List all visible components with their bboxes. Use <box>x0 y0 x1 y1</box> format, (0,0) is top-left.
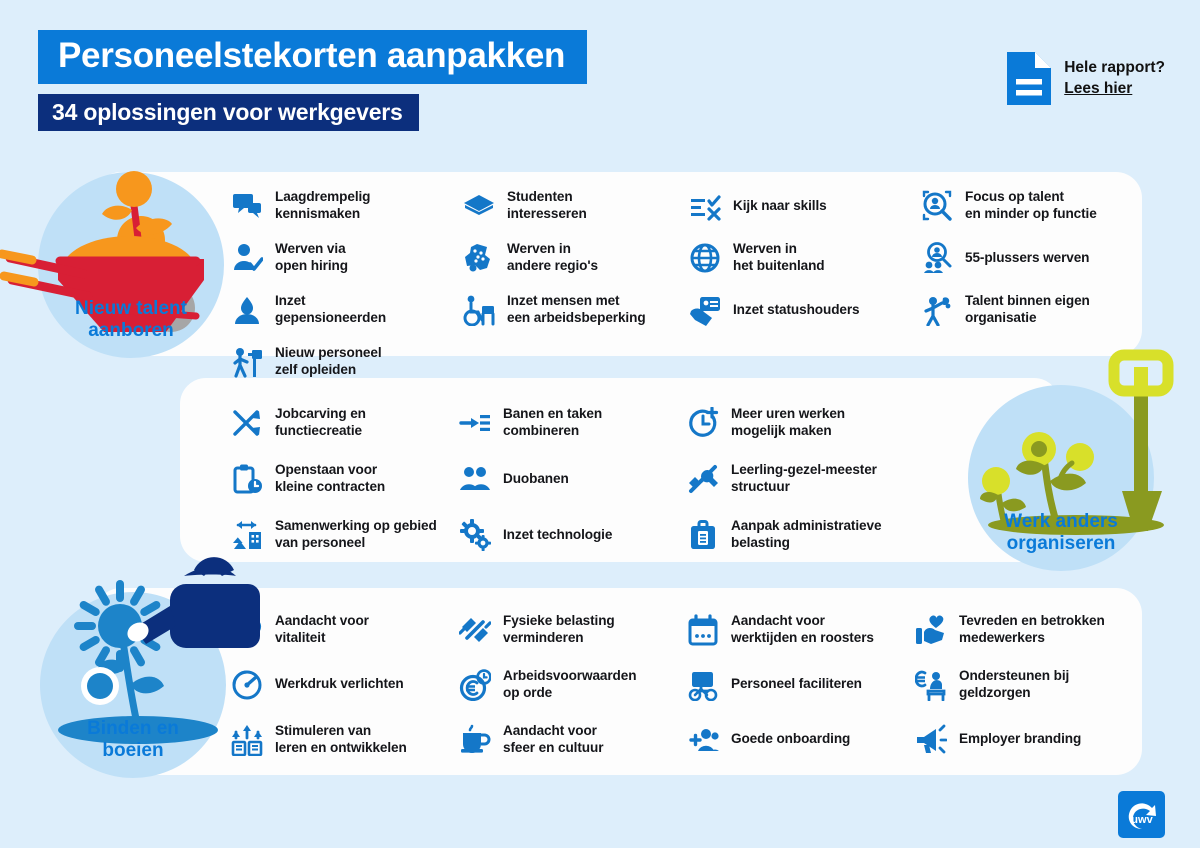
solution-item[interactable]: Werven inandere regio's <box>462 241 688 275</box>
solution-label: Banen en takencombineren <box>503 406 602 439</box>
solution-item[interactable]: Aandacht voorwerktijden en roosters <box>686 613 914 647</box>
solution-label-line1: Jobcarving en <box>275 406 366 421</box>
solution-item[interactable]: Nieuw personeelzelf opleiden <box>230 345 462 379</box>
megaphone-icon <box>914 723 948 757</box>
badge-label-line2: aanboren <box>88 320 174 341</box>
euro-clock-icon <box>458 668 492 702</box>
svg-text:uwv: uwv <box>1131 814 1153 826</box>
solution-label-line2: organisatie <box>965 310 1036 325</box>
solution-label-line2: mogelijk maken <box>731 423 832 438</box>
solution-label-line1: Banen en taken <box>503 406 602 421</box>
solution-label-line1: Personeel faciliteren <box>731 676 862 691</box>
solution-label-line2: het buitenland <box>733 258 825 273</box>
clock-plus-icon <box>686 406 720 440</box>
badge-label-line1: Nieuw talent <box>75 298 187 319</box>
solution-label-line1: Focus op talent <box>965 189 1064 204</box>
badge-nieuw-talent-aanboren: Nieuw talent aanboren <box>38 172 224 358</box>
solution-item[interactable]: Aandacht voorsfeer en cultuur <box>458 723 686 757</box>
solution-label-line1: Kijk naar skills <box>733 198 827 213</box>
solution-label-line1: Samenwerking op gebied <box>275 518 437 533</box>
solution-item[interactable]: Kijk naar skills <box>688 189 920 223</box>
solution-label: Focus op talenten minder op functie <box>965 189 1097 222</box>
badge-label-werk-anders: Werk anders organiseren <box>1004 511 1118 571</box>
solution-label-line2: geldzorgen <box>959 685 1031 700</box>
report-link[interactable]: Hele rapport? Lees hier <box>1007 52 1165 105</box>
solution-item[interactable]: Inzetgepensioneerden <box>230 293 462 327</box>
solution-label-line2: werktijden en roosters <box>731 630 874 645</box>
solution-label-line1: Werven via <box>275 241 346 256</box>
solution-item[interactable]: Duobanen <box>458 462 686 496</box>
solution-label-line1: Aanpak administratieve <box>731 518 881 533</box>
solution-item[interactable]: Tevreden en betrokkenmedewerkers <box>914 613 1124 647</box>
solution-label-line1: Inzet <box>275 293 305 308</box>
arrows-cross-icon <box>230 406 264 440</box>
solution-label: Tevreden en betrokkenmedewerkers <box>959 613 1105 646</box>
badge-label-binden-boeien: Binden en boeien <box>87 718 179 778</box>
solution-label-line2: sfeer en cultuur <box>503 740 603 755</box>
solution-item[interactable]: Werkdruk verlichten <box>230 668 458 702</box>
monitor-bike-icon <box>686 668 720 702</box>
solution-label: Goede onboarding <box>731 731 850 748</box>
solution-label: Aandacht voorvitaliteit <box>275 613 369 646</box>
solution-label-line1: Studenten <box>507 189 573 204</box>
solution-label-line2: van personeel <box>275 535 365 550</box>
solution-label: Werkdruk verlichten <box>275 676 404 693</box>
solution-label: Kijk naar skills <box>733 198 827 215</box>
solution-item[interactable]: Inzet technologie <box>458 518 686 552</box>
solution-label: Werven inhet buitenland <box>733 241 825 274</box>
hammer-wrench-icon <box>686 462 720 496</box>
uwv-logo: uwv <box>1118 791 1165 838</box>
map-region-icon <box>462 241 496 275</box>
solution-label-line1: Leerling-gezel-meester <box>731 462 877 477</box>
solution-label-line1: Aandacht voor <box>731 613 825 628</box>
senior-person-icon <box>230 293 264 327</box>
badge-label-line1: Binden en <box>87 718 179 739</box>
badge-label-nieuw-talent: Nieuw talent aanboren <box>75 298 187 358</box>
arrow-into-list-icon <box>458 406 492 440</box>
solution-label-line2: belasting <box>731 535 790 550</box>
report-read-here-link[interactable]: Lees hier <box>1064 79 1165 100</box>
buildings-exchange-icon <box>230 518 264 552</box>
solution-label-line1: Stimuleren van <box>275 723 371 738</box>
badge-label-line2: boeien <box>102 740 163 761</box>
solution-label-line2: vitaliteit <box>275 630 325 645</box>
solution-label: Personeel faciliteren <box>731 676 862 693</box>
hand-heart-icon <box>914 613 948 647</box>
solution-label-line1: Inzet mensen met <box>507 293 619 308</box>
solution-label-line2: andere regio's <box>507 258 598 273</box>
solution-item[interactable]: Meer uren werkenmogelijk maken <box>686 406 986 440</box>
solution-label-line1: Nieuw personeel <box>275 345 382 360</box>
solution-label-line2: op orde <box>503 685 552 700</box>
solution-label: Fysieke belastingverminderen <box>503 613 615 646</box>
solution-label-line2: kleine contracten <box>275 479 385 494</box>
people-magnifier-icon <box>920 241 954 275</box>
solution-item[interactable]: Samenwerking op gebiedvan personeel <box>230 518 458 552</box>
solution-item[interactable]: Inzet mensen meteen arbeidsbeperking <box>462 293 688 327</box>
page-title: Personeelstekorten aanpakken <box>38 30 587 84</box>
solution-item[interactable]: 55-plussers werven <box>920 241 1140 275</box>
talent-search-icon <box>920 189 954 223</box>
two-people-icon <box>458 462 492 496</box>
solution-label: Aanpak administratievebelasting <box>731 518 881 551</box>
solution-label: Inzet statushouders <box>733 302 860 319</box>
solution-label-line1: Tevreden en betrokken <box>959 613 1105 628</box>
solution-label: Openstaan voorkleine contracten <box>275 462 385 495</box>
solution-item[interactable]: Openstaan voorkleine contracten <box>230 462 458 496</box>
clipboard-clock-icon <box>230 462 264 496</box>
solution-label-line1: Inzet statushouders <box>733 302 860 317</box>
solution-label-line2: open hiring <box>275 258 348 273</box>
page-subtitle: 34 oplossingen voor werkgevers <box>38 94 419 131</box>
report-question: Hele rapport? <box>1064 59 1165 76</box>
solution-item[interactable]: Fysieke belastingverminderen <box>458 613 686 647</box>
solution-label: Nieuw personeelzelf opleiden <box>275 345 382 378</box>
book-arrows-icon <box>230 723 264 757</box>
solution-label: Aandacht voorsfeer en cultuur <box>503 723 603 756</box>
header: Personeelstekorten aanpakken 34 oplossin… <box>38 30 587 131</box>
solution-label-line1: Arbeidsvoorwaarden <box>503 668 636 683</box>
solution-label: Aandacht voorwerktijden en roosters <box>731 613 874 646</box>
coffee-cup-icon <box>458 723 492 757</box>
id-card-hand-icon <box>688 293 722 327</box>
solution-label: 55-plussers werven <box>965 250 1089 267</box>
briefcase-document-icon <box>686 518 720 552</box>
skills-checklist-icon <box>688 189 722 223</box>
solution-label-line1: Werven in <box>507 241 571 256</box>
solution-label-line1: Werven in <box>733 241 797 256</box>
solution-label: Inzetgepensioneerden <box>275 293 386 326</box>
gears-icon <box>458 518 492 552</box>
solution-item[interactable]: Leerling-gezel-meesterstructuur <box>686 462 986 496</box>
solution-label-line2: kennismaken <box>275 206 360 221</box>
solution-label-line1: Talent binnen eigen <box>965 293 1090 308</box>
graduation-cap-icon <box>462 189 496 223</box>
add-people-icon <box>686 723 720 757</box>
solution-label: Jobcarving enfunctiecreatie <box>275 406 366 439</box>
solution-label-line2: zelf opleiden <box>275 362 356 377</box>
wheelchair-desk-icon <box>462 293 496 327</box>
solution-item[interactable]: Laagdrempeligkennismaken <box>230 189 462 223</box>
solution-label: Studenteninteresseren <box>507 189 587 222</box>
solution-item[interactable]: Werven inhet buitenland <box>688 241 920 275</box>
solution-label-line2: functiecreatie <box>275 423 362 438</box>
solution-label-line2: combineren <box>503 423 579 438</box>
solution-label-line1: Laagdrempelig <box>275 189 370 204</box>
solution-label-line1: 55-plussers werven <box>965 250 1089 265</box>
euro-person-desk-icon <box>914 668 948 702</box>
item-grid-nieuw-talent: LaagdrempeligkennismakenStudenteninteres… <box>230 180 1140 388</box>
solution-label: Duobanen <box>503 471 569 488</box>
person-signpost-icon <box>230 345 264 379</box>
solution-label-line2: gepensioneerden <box>275 310 386 325</box>
solution-label: Meer uren werkenmogelijk maken <box>731 406 845 439</box>
solution-label: Werven inandere regio's <box>507 241 598 274</box>
solution-item[interactable]: Personeel faciliteren <box>686 668 914 702</box>
solution-item[interactable]: Focus op talenten minder op functie <box>920 189 1140 223</box>
calendar-icon <box>686 613 720 647</box>
solution-label-line2: medewerkers <box>959 630 1045 645</box>
solution-item[interactable]: Goede onboarding <box>686 723 914 757</box>
solution-label: Werven viaopen hiring <box>275 241 348 274</box>
uwv-logo-icon: uwv <box>1122 795 1162 835</box>
solution-label-line2: interesseren <box>507 206 587 221</box>
solution-label: Leerling-gezel-meesterstructuur <box>731 462 877 495</box>
solution-label-line1: Employer branding <box>959 731 1081 746</box>
solution-label-line2: en minder op functie <box>965 206 1097 221</box>
solution-label-line1: Fysieke belasting <box>503 613 615 628</box>
solution-label: Laagdrempeligkennismaken <box>275 189 370 222</box>
document-icon <box>1007 52 1051 105</box>
person-raised-hand-icon <box>920 293 954 327</box>
dumbbell-icon <box>458 613 492 647</box>
solution-label: Employer branding <box>959 731 1081 748</box>
solution-label: Arbeidsvoorwaardenop orde <box>503 668 636 701</box>
solution-label-line1: Ondersteunen bij <box>959 668 1069 683</box>
solution-label: Inzet technologie <box>503 527 612 544</box>
solution-item[interactable]: Stimuleren vanleren en ontwikkelen <box>230 723 458 757</box>
solution-label-line1: Goede onboarding <box>731 731 850 746</box>
solution-label-line2: verminderen <box>503 630 584 645</box>
solution-label-line2: structuur <box>731 479 790 494</box>
solution-label-line2: leren en ontwikkelen <box>275 740 407 755</box>
solution-item[interactable]: Inzet statushouders <box>688 293 920 327</box>
badge-label-line1: Werk anders <box>1004 511 1118 532</box>
solution-label: Samenwerking op gebiedvan personeel <box>275 518 437 551</box>
solution-label-line1: Werkdruk verlichten <box>275 676 404 691</box>
solution-label-line1: Inzet technologie <box>503 527 612 542</box>
heart-smile-icon <box>230 613 264 647</box>
solution-label: Stimuleren vanleren en ontwikkelen <box>275 723 407 756</box>
solution-label-line1: Aandacht voor <box>503 723 597 738</box>
solution-label: Ondersteunen bijgeldzorgen <box>959 668 1069 701</box>
solution-label-line1: Aandacht voor <box>275 613 369 628</box>
solution-item[interactable]: Werven viaopen hiring <box>230 241 462 275</box>
item-grid-binden-boeien: Aandacht voorvitaliteitFysieke belasting… <box>230 602 1140 767</box>
badge-label-line2: organiseren <box>1007 533 1116 554</box>
solution-label-line2: een arbeidsbeperking <box>507 310 646 325</box>
solution-label-line1: Duobanen <box>503 471 569 486</box>
solution-item[interactable]: Banen en takencombineren <box>458 406 686 440</box>
person-check-icon <box>230 241 264 275</box>
solution-label-line1: Meer uren werken <box>731 406 845 421</box>
solution-label-line1: Openstaan voor <box>275 462 377 477</box>
item-grid-werk-anders: Jobcarving enfunctiecreatieBanen en take… <box>230 395 1020 563</box>
badge-binden-en-boeien: Binden en boeien <box>40 592 226 778</box>
solution-item[interactable]: Talent binnen eigenorganisatie <box>920 293 1140 327</box>
solution-item[interactable]: Arbeidsvoorwaardenop orde <box>458 668 686 702</box>
solution-item[interactable]: Aanpak administratievebelasting <box>686 518 986 552</box>
solution-item[interactable]: Studenteninteresseren <box>462 189 688 223</box>
solution-item[interactable]: Employer branding <box>914 723 1124 757</box>
solution-item[interactable]: Aandacht voorvitaliteit <box>230 613 458 647</box>
gauge-icon <box>230 668 264 702</box>
solution-label: Inzet mensen meteen arbeidsbeperking <box>507 293 646 326</box>
chat-bubbles-icon <box>230 189 264 223</box>
globe-icon <box>688 241 722 275</box>
solution-item[interactable]: Ondersteunen bijgeldzorgen <box>914 668 1124 702</box>
solution-item[interactable]: Jobcarving enfunctiecreatie <box>230 406 458 440</box>
solution-label: Talent binnen eigenorganisatie <box>965 293 1090 326</box>
